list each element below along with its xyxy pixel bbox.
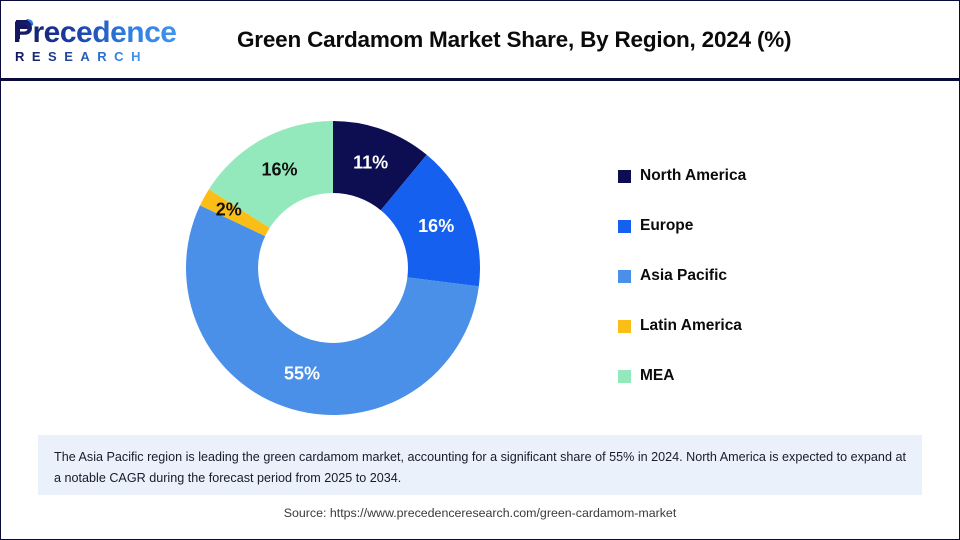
chart-area: 11%16%55%2%16% North AmericaEuropeAsia P… bbox=[1, 81, 959, 431]
legend: North AmericaEuropeAsia PacificLatin Ame… bbox=[618, 151, 918, 401]
legend-item[interactable]: Latin America bbox=[618, 301, 918, 351]
legend-swatch-icon bbox=[618, 220, 631, 233]
chart-infographic: Precedence RESEARCH Green Cardamom Marke… bbox=[0, 0, 960, 540]
legend-item-label: Latin America bbox=[640, 317, 742, 335]
header-bar: Precedence RESEARCH Green Cardamom Marke… bbox=[1, 1, 959, 81]
logo-wordmark: Precedence bbox=[13, 17, 176, 49]
legend-item-label: MEA bbox=[640, 367, 674, 385]
source-line: Source: https://www.precedenceresearch.c… bbox=[1, 506, 959, 520]
legend-swatch-icon bbox=[618, 320, 631, 333]
donut-chart: 11%16%55%2%16% bbox=[186, 121, 480, 415]
legend-item[interactable]: MEA bbox=[618, 351, 918, 401]
logo-subtitle: RESEARCH bbox=[15, 49, 148, 64]
legend-swatch-icon bbox=[618, 370, 631, 383]
legend-item-label: North America bbox=[640, 167, 746, 185]
legend-item-label: Europe bbox=[640, 217, 693, 235]
caption-box: The Asia Pacific region is leading the g… bbox=[38, 435, 922, 495]
precedence-research-logo: Precedence RESEARCH bbox=[13, 17, 173, 67]
legend-swatch-icon bbox=[618, 270, 631, 283]
legend-item-label: Asia Pacific bbox=[640, 267, 727, 285]
donut-svg: 11%16%55%2%16% bbox=[186, 121, 480, 415]
caption-text: The Asia Pacific region is leading the g… bbox=[54, 447, 906, 489]
legend-swatch-icon bbox=[618, 170, 631, 183]
donut-slice-label: 16% bbox=[418, 216, 454, 236]
page-title: Green Cardamom Market Share, By Region, … bbox=[237, 27, 791, 53]
legend-item[interactable]: North America bbox=[618, 151, 918, 201]
legend-item[interactable]: Asia Pacific bbox=[618, 251, 918, 301]
legend-item[interactable]: Europe bbox=[618, 201, 918, 251]
donut-slice-label: 55% bbox=[284, 363, 320, 383]
donut-slice-group bbox=[186, 121, 480, 415]
donut-slice-label: 11% bbox=[353, 152, 388, 172]
donut-slice-label: 16% bbox=[262, 159, 298, 179]
donut-slice-label: 2% bbox=[216, 199, 242, 219]
